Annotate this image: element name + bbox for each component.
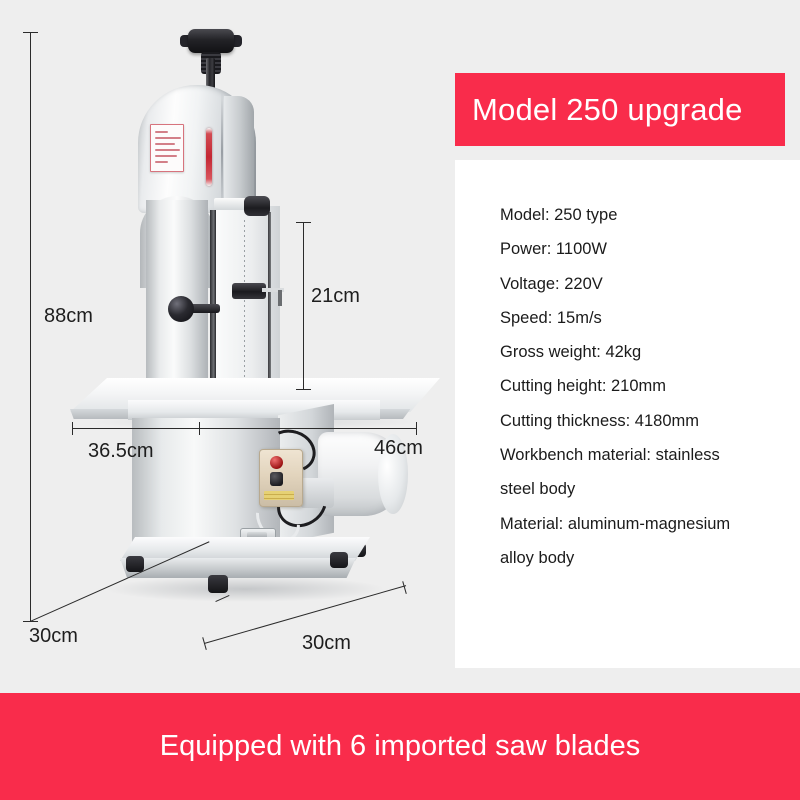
- switch-button-dark: [270, 472, 283, 486]
- specification-list: Model: 250 type Power: 1100W Voltage: 22…: [500, 198, 790, 575]
- power-button-red: [270, 456, 283, 469]
- blade-indicator-strip: [206, 128, 212, 186]
- dimension-label-88cm: 88cm: [44, 305, 93, 328]
- spec-line: Cutting height: 210mm: [500, 369, 790, 403]
- spec-line: alloy body: [500, 541, 790, 575]
- machine-name-plate: [150, 124, 184, 172]
- lower-cabinet: [132, 418, 280, 546]
- dimension-label-46cm: 46cm: [374, 437, 423, 460]
- rubber-foot-front-left: [126, 556, 144, 572]
- header-banner-title: Model 250 upgrade: [455, 92, 743, 128]
- tension-knob-top: [188, 29, 234, 53]
- control-box-label: [264, 491, 294, 500]
- blade-guide-block: [232, 283, 266, 299]
- spec-line: Speed: 15m/s: [500, 301, 790, 335]
- spec-line: Model: 250 type: [500, 198, 790, 232]
- saw-blade: [268, 212, 271, 402]
- spec-line: Cutting thickness: 4180mm: [500, 404, 790, 438]
- spec-line: Gross weight: 42kg: [500, 335, 790, 369]
- base-plinth-front: [120, 558, 356, 578]
- workbench-table-front: [128, 400, 380, 420]
- door-lock-knob: [168, 296, 212, 320]
- footer-banner: Equipped with 6 imported saw blades: [0, 693, 800, 800]
- footer-banner-text: Equipped with 6 imported saw blades: [160, 730, 640, 763]
- upper-guide-knob: [244, 196, 270, 216]
- spec-line: Material: aluminum-magnesium: [500, 507, 790, 541]
- dimension-label-21cm: 21cm: [311, 285, 360, 308]
- blade-guide-tip: [278, 290, 282, 306]
- dimension-label-36-5cm: 36.5cm: [88, 440, 154, 463]
- rubber-foot-front-right: [330, 552, 348, 568]
- housing-seam: [221, 92, 223, 212]
- rubber-foot-center: [208, 575, 228, 593]
- infographic-stage: 88cm 21cm 36.5cm 46cm 30cm: [0, 0, 800, 800]
- dimension-label-30cm-depth: 30cm: [29, 625, 78, 648]
- blade-dotted-line: [244, 220, 245, 398]
- spec-line: Power: 1100W: [500, 232, 790, 266]
- spec-line: steel body: [500, 472, 790, 506]
- base-shadow: [104, 576, 386, 602]
- product-photo: 88cm 21cm 36.5cm 46cm 30cm: [0, 0, 455, 693]
- upper-guide-bar: [214, 198, 248, 210]
- spec-line: Workbench material: stainless: [500, 438, 790, 472]
- header-banner: Model 250 upgrade: [455, 73, 785, 146]
- spec-line: Voltage: 220V: [500, 267, 790, 301]
- dimension-label-30cm-width: 30cm: [302, 632, 351, 655]
